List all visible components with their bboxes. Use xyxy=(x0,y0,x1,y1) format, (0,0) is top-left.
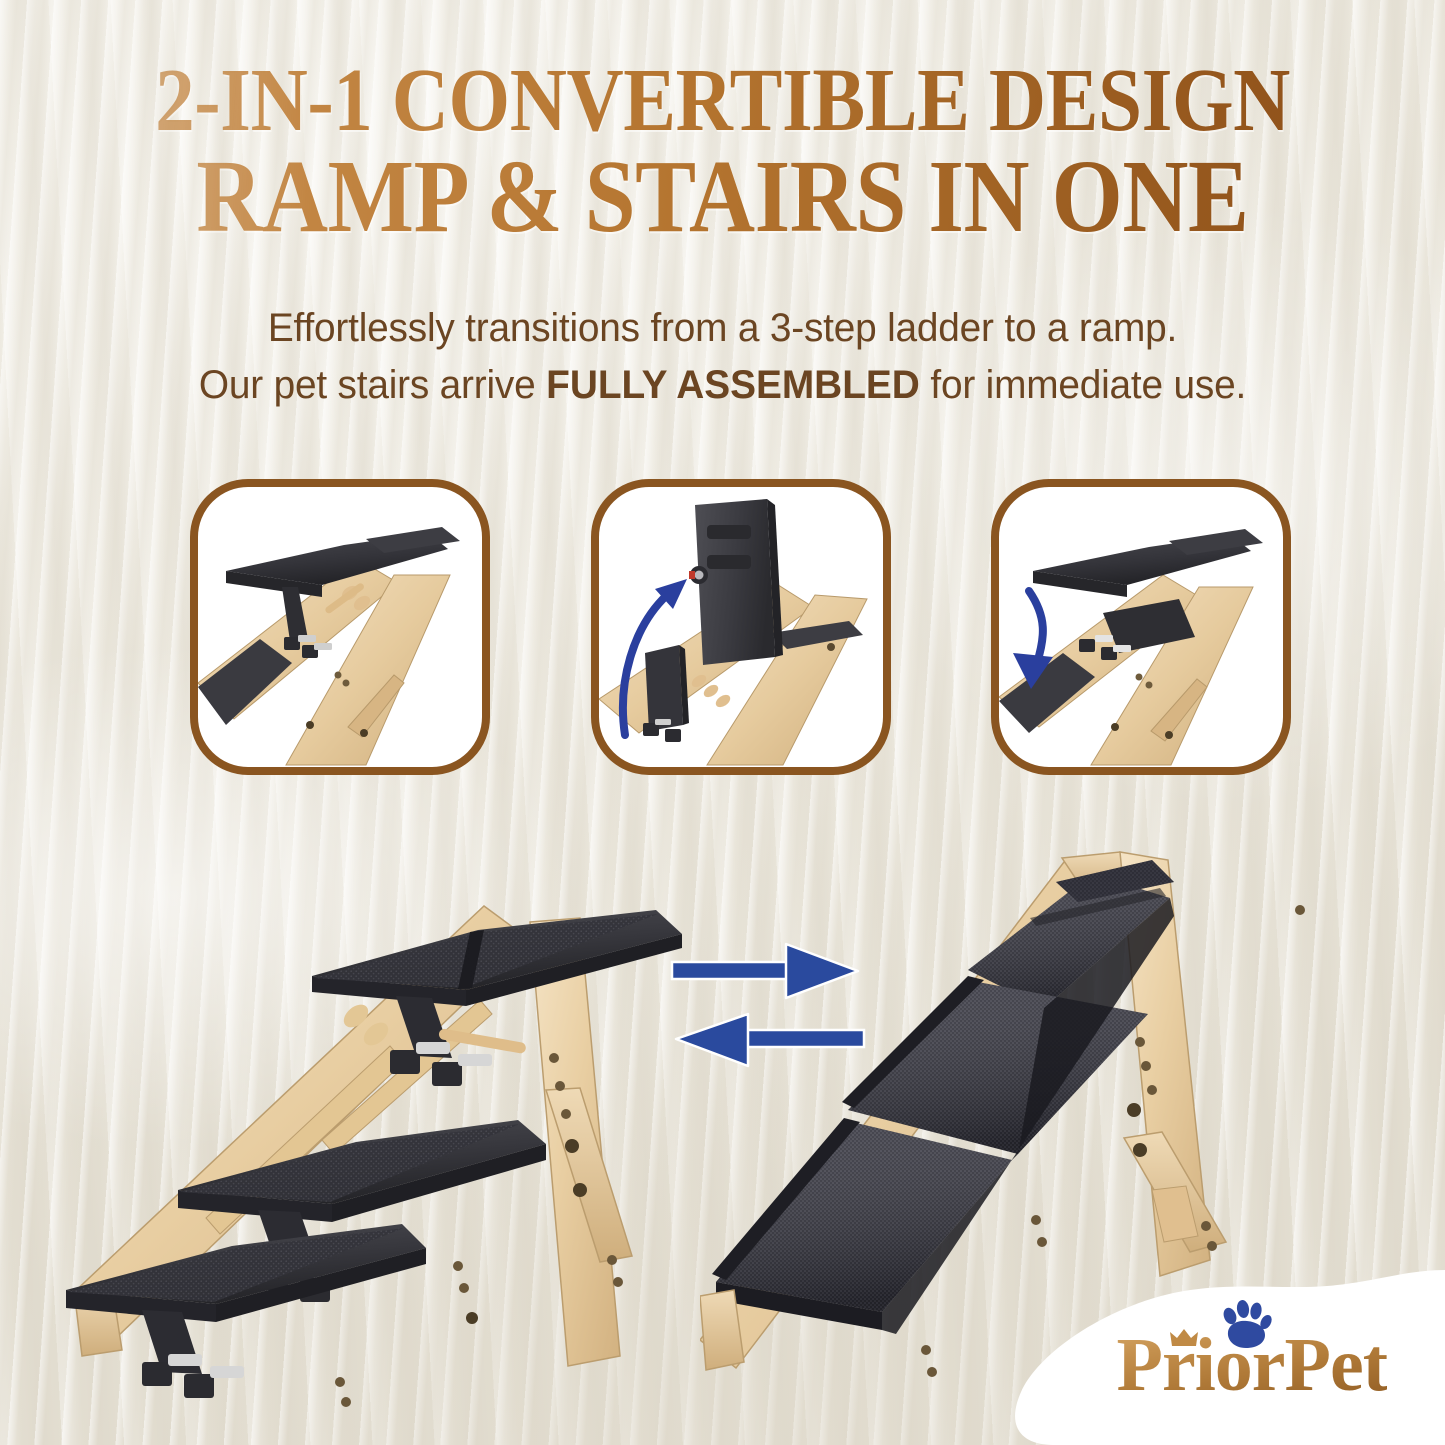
conversion-arrows xyxy=(668,938,868,1078)
headline-line-2: RAMP & STAIRS IN ONE xyxy=(87,148,1359,247)
subtitle-line-1: Effortlessly transitions from a 3-step l… xyxy=(22,300,1424,357)
subtitle-text-after: for immediate use. xyxy=(920,363,1246,407)
subtitle: Effortlessly transitions from a 3-step l… xyxy=(0,300,1445,414)
headline-line-1: 2-IN-1 CONVERTIBLE DESIGN xyxy=(87,58,1359,144)
stairs-illustration xyxy=(60,790,750,1410)
paw-print-icon xyxy=(1219,1300,1273,1355)
panel-step-folding xyxy=(991,479,1291,775)
headline: 2-IN-1 CONVERTIBLE DESIGN RAMP & STAIRS … xyxy=(0,58,1445,246)
subtitle-emphasis: FULLY ASSEMBLED xyxy=(546,363,920,407)
panel-3-illustration xyxy=(999,487,1283,767)
instruction-panel-row xyxy=(0,479,1445,779)
panel-2-illustration xyxy=(599,487,883,767)
panel-step-deployed xyxy=(190,479,490,775)
panel-step-lifting xyxy=(591,479,891,775)
arrow-right-icon xyxy=(672,944,858,998)
arrow-left-icon xyxy=(676,1014,864,1066)
subtitle-text-before: Our pet stairs arrive xyxy=(199,363,546,407)
crown-icon xyxy=(1169,1328,1199,1353)
subtitle-line-2: Our pet stairs arrive FULLY ASSEMBLED fo… xyxy=(22,357,1424,414)
hero-image-stairs xyxy=(60,790,750,1410)
panel-1-illustration xyxy=(198,487,482,767)
